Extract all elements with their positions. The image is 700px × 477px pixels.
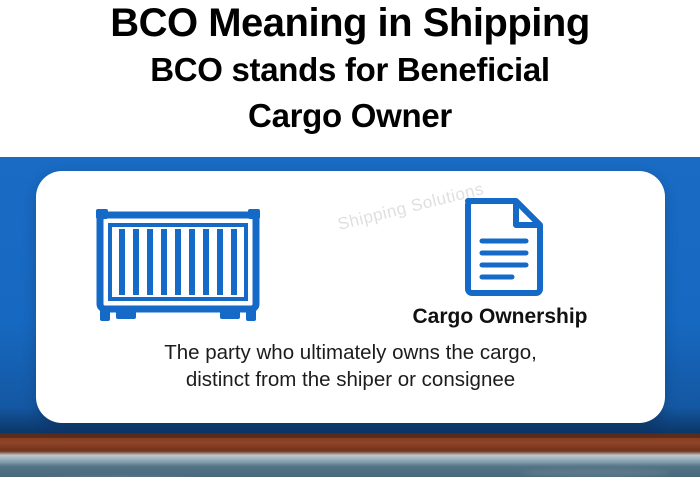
header-block: BCO Meaning in Shipping BCO stands for B… [0, 0, 700, 157]
page-subtitle-line-1: BCO stands for Beneficial [0, 50, 700, 90]
wave-highlight [520, 469, 670, 477]
page-subtitle-line-2: Cargo Owner [0, 96, 700, 136]
card-description: The party who ultimately owns the cargo,… [60, 339, 641, 394]
card-description-line-2: distinct from the shiper or consignee [60, 366, 641, 393]
rust-waterline-stripe [0, 433, 700, 455]
water-foam [0, 453, 700, 465]
page-title: BCO Meaning in Shipping [0, 2, 700, 44]
card-description-line-1: The party who ultimately owns the cargo, [60, 339, 641, 366]
infographic-canvas: BCO Meaning in Shipping BCO stands for B… [0, 0, 700, 477]
shipping-container-icon [92, 207, 264, 334]
info-card: Shipping Solutions [36, 171, 665, 423]
document-icon [460, 197, 548, 302]
cargo-ownership-label: Cargo Ownership [370, 305, 630, 329]
